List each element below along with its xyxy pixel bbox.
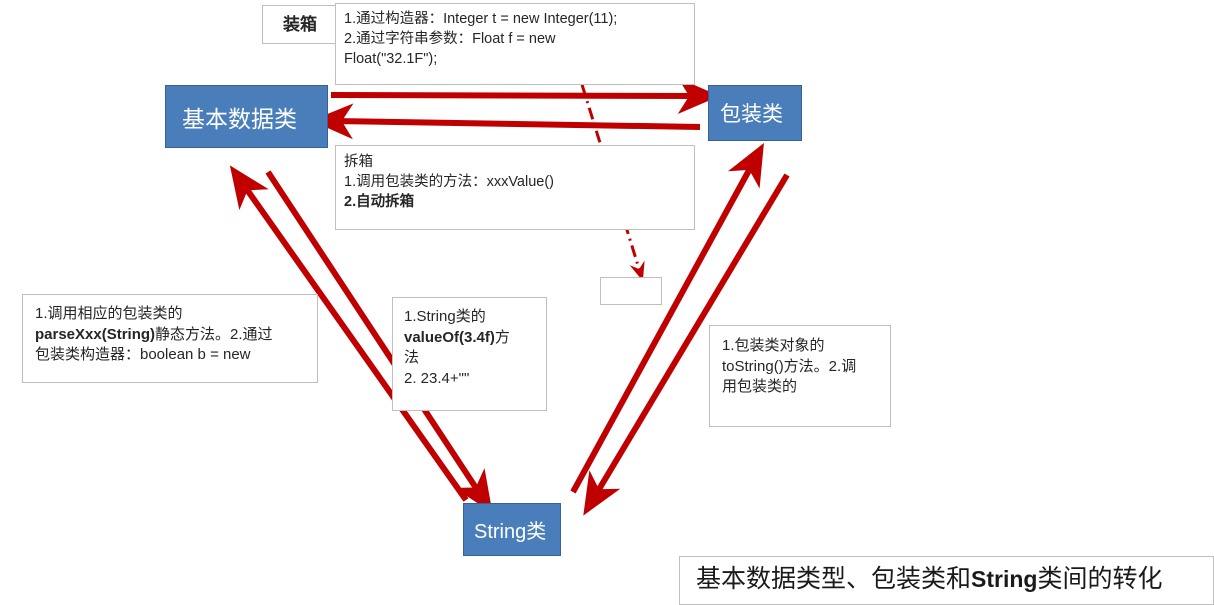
tostring-description-box: 1.包装类对象的 toString()方法。2.调 用包装类的: [709, 325, 891, 427]
valueof-method-name: valueOf(3.4f): [404, 329, 495, 346]
boxing-label-box: 装箱: [262, 5, 338, 44]
node-primitive-label: 基本数据类: [166, 100, 327, 134]
unboxing-line-3: 2.自动拆箱: [344, 192, 686, 212]
unboxing-description-box: 拆箱 1.调用包装类的方法：xxxValue() 2.自动拆箱: [335, 145, 695, 230]
boxing-label-text: 装箱: [283, 13, 317, 36]
boxing-description-box: 1.通过构造器：Integer t = new Integer(11); 2.通…: [335, 3, 695, 85]
diagram-title-text: 基本数据类型、包装类和String类间的转化: [696, 563, 1162, 598]
empty-callout-box: [600, 277, 662, 305]
valueof-line-3: 法: [404, 348, 535, 369]
node-string-class[interactable]: String类: [463, 503, 561, 556]
valueof-line-2-rest: 方: [495, 329, 510, 346]
parse-line-2-rest: 静态方法。2.通过: [155, 326, 273, 343]
valueof-line-1: 1.String类的: [404, 307, 535, 328]
arrow-wrapper-to-primitive: [334, 121, 700, 127]
tostring-line-3: 用包装类的: [722, 377, 878, 398]
node-wrapper-label: 包装类: [709, 98, 801, 128]
unboxing-line-1: 拆箱: [344, 152, 686, 172]
valueof-line-4: 2. 23.4+"": [404, 369, 535, 390]
valueof-line-2: valueOf(3.4f)方: [404, 328, 535, 349]
diagram-canvas: 基本数据类 包装类 String类 装箱 1.通过构造器：Integer t =…: [0, 0, 1214, 605]
parse-description-box: 1.调用相应的包装类的 parseXxx(String)静态方法。2.通过 包装…: [22, 294, 318, 383]
arrow-primitive-to-wrapper: [331, 95, 697, 96]
tostring-line-2: toString()方法。2.调: [722, 357, 878, 378]
boxing-line-2: 2.通过字符串参数：Float f = new: [344, 29, 686, 49]
diagram-title-box: 基本数据类型、包装类和String类间的转化: [679, 556, 1214, 605]
parse-line-3: 包装类构造器：boolean b = new: [35, 345, 305, 366]
parse-method-name: parseXxx(String): [35, 326, 155, 343]
unboxing-line-2: 1.调用包装类的方法：xxxValue(): [344, 172, 686, 192]
node-string-label: String类: [464, 515, 560, 544]
boxing-line-1: 1.通过构造器：Integer t = new Integer(11);: [344, 9, 686, 29]
node-wrapper-class[interactable]: 包装类: [708, 85, 802, 141]
parse-line-2: parseXxx(String)静态方法。2.通过: [35, 325, 305, 346]
tostring-line-1: 1.包装类对象的: [722, 336, 878, 357]
parse-line-1: 1.调用相应的包装类的: [35, 304, 305, 325]
valueof-description-box: 1.String类的 valueOf(3.4f)方 法 2. 23.4+"": [392, 297, 547, 411]
boxing-line-3: Float("32.1F");: [344, 49, 686, 69]
node-primitive-type[interactable]: 基本数据类: [165, 85, 328, 148]
